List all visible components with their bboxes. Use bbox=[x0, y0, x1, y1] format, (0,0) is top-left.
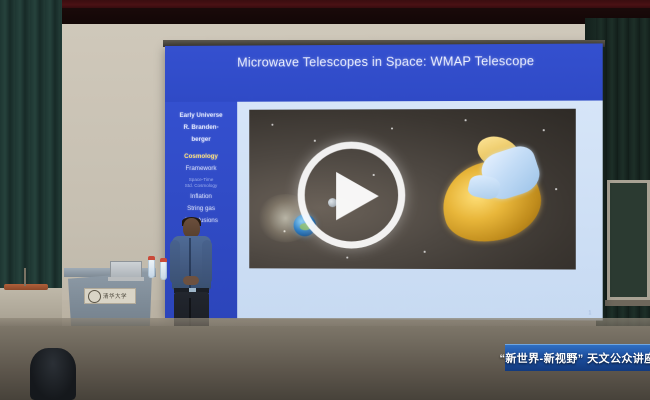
sidebar-item-framework: Framework bbox=[167, 165, 235, 173]
speaker-arm-right bbox=[202, 240, 212, 284]
sidebar-item-string-gas: String gas bbox=[167, 205, 235, 213]
microphone-stand bbox=[24, 268, 26, 286]
laptop-base bbox=[108, 277, 144, 281]
water-bottle-1 bbox=[148, 259, 155, 278]
sidebar-item-author-line1: R. Branden- bbox=[167, 124, 235, 132]
speaker-hands bbox=[183, 276, 199, 285]
play-triangle-icon bbox=[336, 172, 379, 220]
sidebar-item-inflation: Inflation bbox=[167, 193, 235, 201]
projection-screen: Microwave Telescopes in Space: WMAP Tele… bbox=[165, 43, 603, 320]
laptop-screen bbox=[110, 261, 142, 278]
podium-plaque: 清华大学 bbox=[84, 288, 136, 304]
water-bottle-2 bbox=[160, 261, 167, 280]
speaker-arm-left bbox=[170, 240, 180, 284]
sidebar-item-std-cosmology: Std. Cosmology bbox=[165, 183, 237, 189]
sidebar-item-cosmology: Cosmology bbox=[167, 153, 235, 161]
wmap-space-photo bbox=[249, 109, 576, 270]
blackboard bbox=[607, 180, 650, 300]
speaker-head bbox=[183, 218, 200, 238]
sidebar-item-author-line2: berger bbox=[167, 136, 235, 144]
podium-plaque-text: 清华大学 bbox=[103, 292, 127, 300]
water-bottle-cap-1 bbox=[148, 256, 155, 260]
slide-title: Microwave Telescopes in Space: WMAP Tele… bbox=[237, 53, 574, 71]
university-seal-icon bbox=[88, 290, 101, 303]
curtain-left bbox=[0, 0, 62, 330]
blackboard-tray bbox=[605, 300, 650, 306]
sidebar-item-early-universe: Early Universe bbox=[167, 112, 235, 120]
slide-body: 1 bbox=[237, 101, 603, 321]
play-button[interactable] bbox=[298, 142, 406, 249]
table-red-object bbox=[4, 284, 48, 290]
program-banner-text: “新世界-新视野” 天文公众讲座 bbox=[499, 350, 650, 366]
wmap-satellite bbox=[434, 131, 557, 248]
slide-page-number: 1 bbox=[588, 310, 592, 316]
presentation-slide: Microwave Telescopes in Space: WMAP Tele… bbox=[165, 43, 603, 320]
video-frame: Microwave Telescopes in Space: WMAP Tele… bbox=[0, 0, 650, 400]
program-banner: “新世界-新视野” 天文公众讲座 bbox=[505, 344, 650, 371]
audience-silhouette bbox=[30, 348, 76, 400]
water-bottle-cap-2 bbox=[160, 258, 167, 262]
